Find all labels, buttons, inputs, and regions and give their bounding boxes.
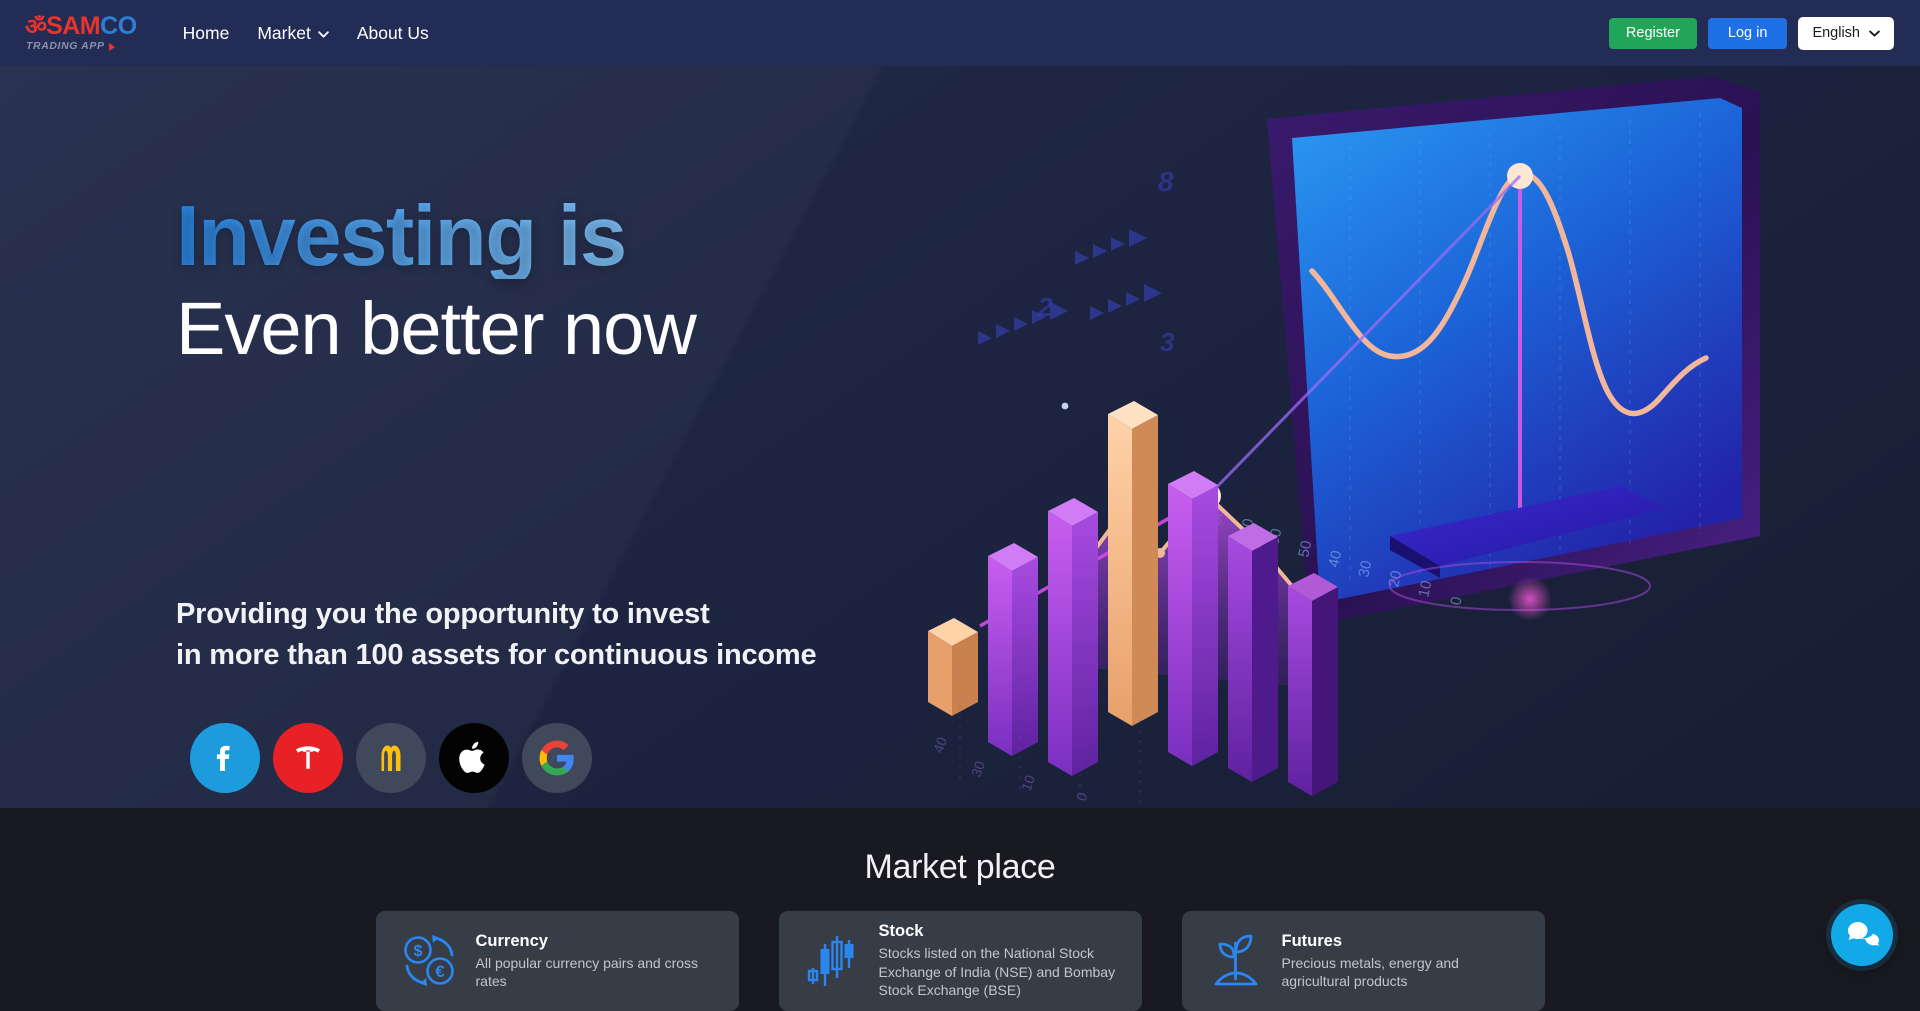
chat-widget-button[interactable] xyxy=(1831,904,1893,966)
svg-text:30: 30 xyxy=(968,759,988,779)
market-place-section: Market place $ € Currency All popular cu… xyxy=(0,808,1920,993)
hero-section: 2 3 8 80 70 60 50 40 30 20 10 xyxy=(0,66,1920,808)
tesla-logo-icon[interactable] xyxy=(273,723,343,793)
nav-item-about-us[interactable]: About Us xyxy=(343,15,443,52)
market-card-currency-description: All popular currency pairs and cross rat… xyxy=(476,954,721,991)
hero-subtext-line-1: Providing you the opportunity to invest xyxy=(176,594,816,635)
market-card-list: $ € Currency All popular currency pairs … xyxy=(0,911,1920,1011)
stand-glow xyxy=(1508,577,1552,621)
language-selector-label: English xyxy=(1812,25,1860,41)
language-selector[interactable]: English xyxy=(1798,17,1894,50)
register-button[interactable]: Register xyxy=(1609,18,1697,49)
market-card-currency-body: Currency All popular currency pairs and … xyxy=(476,932,721,991)
isometric-bar-group xyxy=(928,401,1338,796)
svg-text:$: $ xyxy=(413,943,422,960)
logo-tagline-row: TRADING APP xyxy=(26,41,137,52)
play-arrow-icon xyxy=(109,43,115,51)
floating-numbers: 2 3 8 xyxy=(1037,166,1175,357)
logo-wordmark: ॐ SAM CO xyxy=(26,14,137,39)
market-card-stock-description: Stocks listed on the National Stock Exch… xyxy=(879,944,1124,999)
svg-text:10: 10 xyxy=(1415,579,1435,599)
hero-headline-accent: Investing is xyxy=(176,194,696,279)
market-card-futures-body: Futures Precious metals, energy and agri… xyxy=(1282,932,1527,991)
currency-exchange-icon: $ € xyxy=(394,927,466,995)
nav-actions: Register Log in English xyxy=(1609,17,1894,50)
market-card-currency[interactable]: $ € Currency All popular currency pairs … xyxy=(376,911,739,1011)
chevron-down-icon xyxy=(1869,30,1880,37)
market-card-stock-title: Stock xyxy=(879,922,1124,941)
nav-item-home-label: Home xyxy=(183,23,230,44)
market-card-stock-body: Stock Stocks listed on the National Stoc… xyxy=(879,922,1124,999)
sprout-icon xyxy=(1200,927,1272,995)
market-card-futures-description: Precious metals, energy and agricultural… xyxy=(1282,954,1527,991)
svg-text:50: 50 xyxy=(1295,539,1315,559)
hero-subtext-line-2: in more than 100 assets for continuous i… xyxy=(176,635,816,676)
isometric-trading-illustration: 2 3 8 80 70 60 50 40 30 20 10 xyxy=(920,66,1920,808)
nav-item-about-us-label: About Us xyxy=(357,23,429,44)
candlestick-chart-icon xyxy=(797,927,869,995)
samco-logo[interactable]: ॐ SAM CO TRADING APP xyxy=(26,14,137,52)
svg-text:0: 0 xyxy=(1073,790,1091,803)
nav-item-home[interactable]: Home xyxy=(169,15,244,52)
primary-nav-links: Home Market About Us xyxy=(169,15,443,52)
svg-text:40: 40 xyxy=(930,735,950,755)
chevron-down-icon xyxy=(318,31,329,38)
logo-text-sam: SAM xyxy=(46,14,100,39)
svg-text:€: € xyxy=(435,962,445,981)
market-card-currency-title: Currency xyxy=(476,932,721,951)
hero-headline-plain: Even better now xyxy=(176,285,696,372)
market-card-stock[interactable]: Stock Stocks listed on the National Stoc… xyxy=(779,911,1142,1011)
google-logo-icon[interactable] xyxy=(522,723,592,793)
top-navigation-bar: ॐ SAM CO TRADING APP Home Market About U… xyxy=(0,0,1920,66)
facebook-logo-icon[interactable] xyxy=(190,723,260,793)
market-place-title: Market place xyxy=(0,808,1920,887)
floating-arrows xyxy=(978,229,1162,345)
logo-tagline: TRADING APP xyxy=(26,41,105,52)
samco-symbol-icon: ॐ xyxy=(25,16,46,38)
nav-item-market-label: Market xyxy=(257,23,310,44)
market-card-futures[interactable]: Futures Precious metals, energy and agri… xyxy=(1182,911,1545,1011)
svg-text:10: 10 xyxy=(1018,773,1038,793)
chat-bubbles-icon xyxy=(1845,920,1879,950)
svg-text:0: 0 xyxy=(1447,595,1465,607)
brand-logo-row xyxy=(190,723,592,793)
svg-text:40: 40 xyxy=(1325,549,1345,569)
svg-text:3: 3 xyxy=(1160,327,1175,357)
mcdonalds-logo-icon[interactable] xyxy=(356,723,426,793)
login-button[interactable]: Log in xyxy=(1708,18,1788,49)
svg-text:8: 8 xyxy=(1158,166,1174,197)
apple-logo-icon[interactable] xyxy=(439,723,509,793)
hero-headline-block: Investing is Even better now xyxy=(176,194,696,372)
nav-item-market[interactable]: Market xyxy=(243,15,342,52)
logo-text-co: CO xyxy=(100,14,137,39)
market-card-futures-title: Futures xyxy=(1282,932,1527,951)
svg-text:30: 30 xyxy=(1355,559,1375,579)
svg-text:2: 2 xyxy=(1037,292,1053,322)
hero-subtext: Providing you the opportunity to invest … xyxy=(176,594,816,677)
glow-dot xyxy=(1062,403,1069,410)
